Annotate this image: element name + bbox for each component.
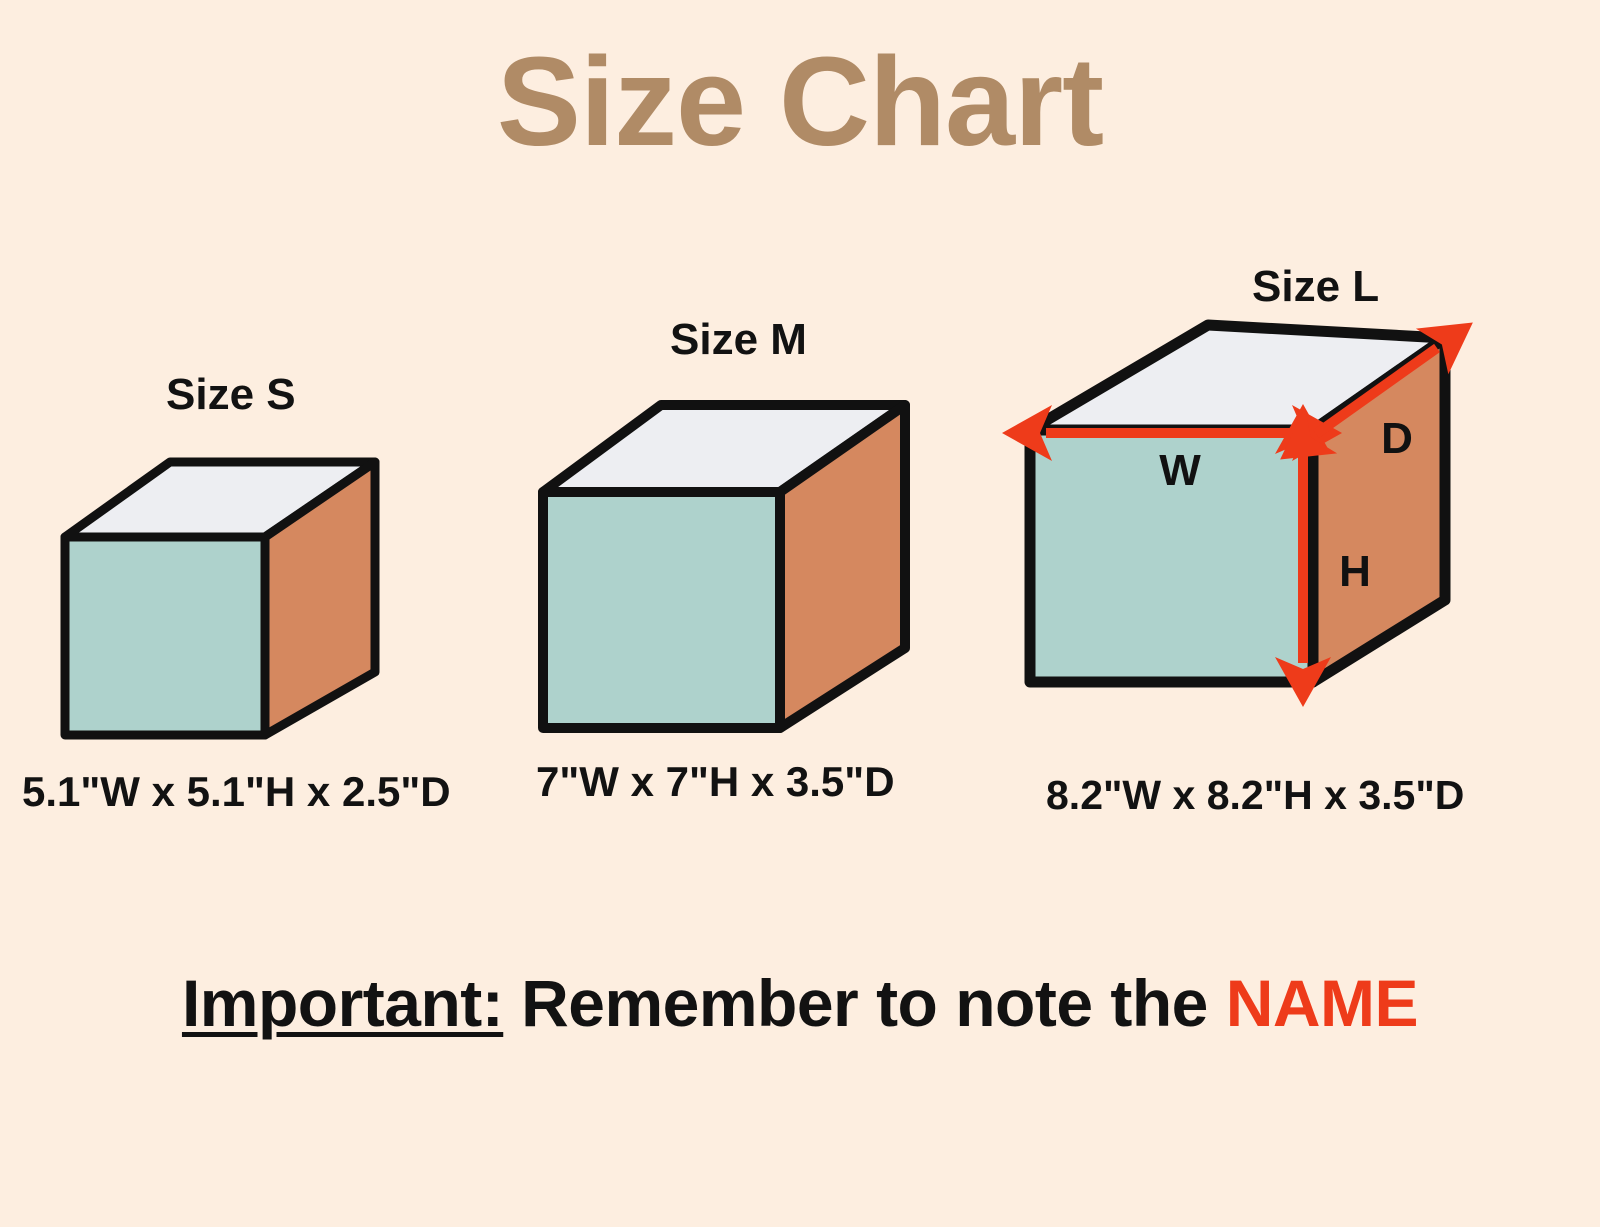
size-chart-page: Size Chart: [0, 0, 1600, 1227]
important-label: Important:: [182, 966, 503, 1040]
box-size-m: [543, 405, 905, 728]
width-arrow-label: W: [1159, 446, 1201, 495]
box-s-front-face: [65, 537, 265, 735]
depth-arrow-label: D: [1381, 414, 1413, 463]
size-label-l: Size L: [1252, 262, 1379, 312]
box-m-side-face: [780, 405, 905, 728]
name-highlight: NAME: [1226, 966, 1418, 1040]
box-size-l: W H D: [1030, 325, 1445, 682]
box-s-side-face: [265, 462, 375, 735]
box-m-front-face: [543, 492, 780, 728]
important-note: Important: Remember to note the NAME: [0, 965, 1600, 1041]
box-s-top-face: [65, 462, 375, 537]
size-label-m: Size M: [670, 315, 807, 365]
box-l-side-face: [1313, 338, 1445, 682]
size-label-s: Size S: [166, 370, 296, 420]
page-title: Size Chart: [0, 30, 1600, 175]
box-illustrations: W H D: [0, 0, 1600, 1227]
box-l-front-face: [1030, 430, 1313, 682]
box-l-top-face: [1030, 325, 1445, 430]
height-arrow-label: H: [1339, 547, 1371, 596]
important-message: Remember to note the: [503, 966, 1225, 1040]
dimensions-text-s: 5.1"W x 5.1"H x 2.5"D: [22, 768, 451, 816]
box-m-top-face: [543, 405, 905, 492]
box-size-s: [65, 462, 375, 735]
dimensions-text-l: 8.2"W x 8.2"H x 3.5"D: [1046, 772, 1464, 819]
dimensions-text-m: 7"W x 7"H x 3.5"D: [536, 758, 895, 806]
depth-dimension-arrow: [1316, 348, 1437, 434]
